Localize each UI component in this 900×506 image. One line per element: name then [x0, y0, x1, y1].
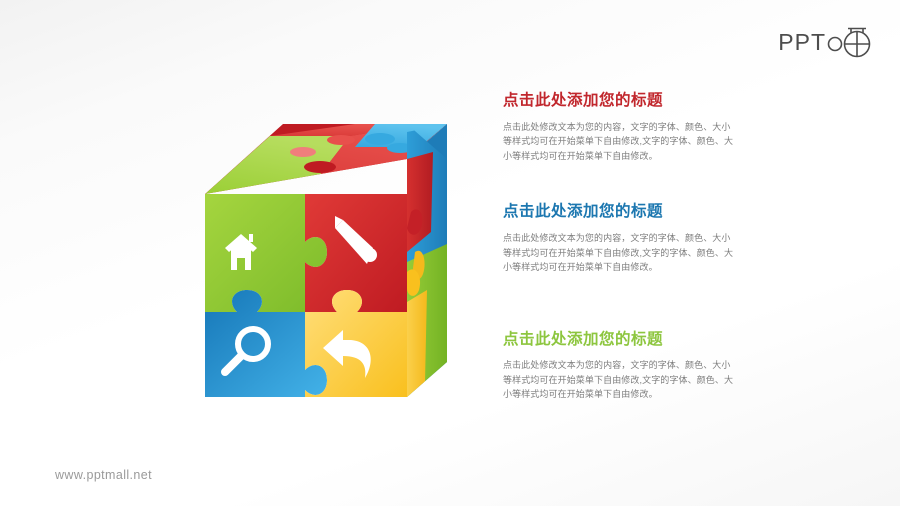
- slide-canvas: PPT: [0, 0, 900, 506]
- text-block-2[interactable]: 点击此处添加您的标题 点击此处修改文本为您的内容，文字的字体、颜色、大小等样式均…: [503, 203, 735, 274]
- cube-front-face: [205, 194, 407, 397]
- crossed-circle-icon: [845, 29, 870, 57]
- text-block-3[interactable]: 点击此处添加您的标题 点击此处修改文本为您的内容，文字的字体、颜色、大小等样式均…: [503, 331, 735, 402]
- right-piece-yellow: [407, 290, 427, 400]
- brand-logo: PPT: [778, 22, 878, 62]
- top-knob-pink: [290, 147, 316, 157]
- circle-icon: [829, 38, 842, 51]
- top-knob-red: [304, 161, 336, 173]
- top-knob-red-2: [327, 135, 355, 145]
- cube-right-face: [407, 124, 447, 400]
- block-3-body: 点击此处修改文本为您的内容，文字的字体、颜色、大小等样式均可在开始菜单下自由修改…: [503, 358, 735, 402]
- text-blocks-container: 点击此处添加您的标题 点击此处修改文本为您的内容，文字的字体、颜色、大小等样式均…: [503, 92, 735, 402]
- puzzle-cube-graphic: [175, 112, 475, 402]
- block-3-title: 点击此处添加您的标题: [503, 331, 735, 350]
- block-1-title: 点击此处添加您的标题: [503, 92, 735, 111]
- logo-text: PPT: [778, 31, 826, 54]
- text-block-1[interactable]: 点击此处添加您的标题 点击此处修改文本为您的内容，文字的字体、颜色、大小等样式均…: [503, 92, 735, 163]
- block-2-title: 点击此处添加您的标题: [503, 203, 735, 222]
- block-1-body: 点击此处修改文本为您的内容，文字的字体、颜色、大小等样式均可在开始菜单下自由修改…: [503, 120, 735, 164]
- footer-url[interactable]: www.pptmall.net: [55, 468, 152, 482]
- logo-mark: [826, 22, 878, 62]
- top-knob-blue: [365, 133, 395, 145]
- block-2-body: 点击此处修改文本为您的内容，文字的字体、颜色、大小等样式均可在开始菜单下自由修改…: [503, 231, 735, 275]
